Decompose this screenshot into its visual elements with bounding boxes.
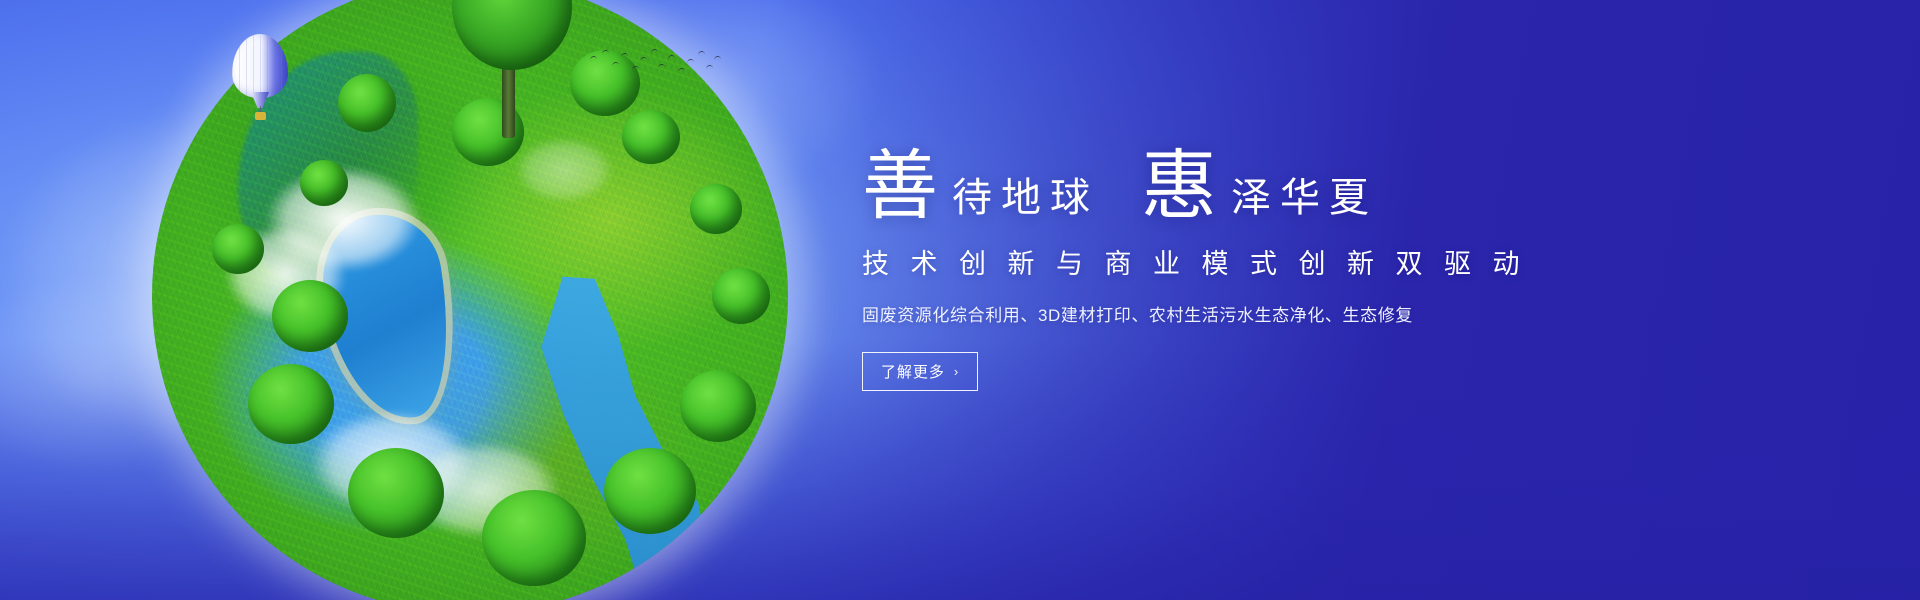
globe-tree: [248, 364, 334, 444]
bird-flock-icon: [588, 46, 718, 90]
hero-copy-block: 善 待地球 惠 泽华夏 技 术 创 新 与 商 业 模 式 创 新 双 驱 动 …: [862, 132, 1542, 391]
globe-tree: [482, 490, 586, 586]
globe-tree: [300, 160, 348, 206]
learn-more-button[interactable]: 了解更多 ›: [862, 352, 978, 391]
globe-tree: [712, 268, 770, 324]
headline-char-2: 惠: [1141, 148, 1219, 224]
hot-air-balloon-icon: [232, 34, 288, 126]
hero-banner: 善 待地球 惠 泽华夏 技 术 创 新 与 商 业 模 式 创 新 双 驱 动 …: [0, 0, 1920, 600]
learn-more-label: 了解更多: [881, 361, 945, 382]
headline-char-1: 善: [862, 148, 940, 224]
globe-tree: [348, 448, 444, 538]
globe-tree: [272, 280, 348, 352]
globe-tree: [622, 110, 680, 164]
globe-tree: [690, 184, 742, 234]
headline-text-2: 泽华夏: [1231, 178, 1378, 224]
globe-tree: [604, 448, 696, 534]
balloon-envelope: [232, 34, 288, 98]
balloon-basket: [255, 112, 266, 120]
hero-description: 固废资源化综合利用、3D建材打印、农村生活污水生态净化、生态修复: [862, 301, 1542, 326]
globe-tree: [680, 370, 756, 442]
chevron-right-icon: ›: [954, 364, 959, 379]
hero-subtitle: 技 术 创 新 与 商 业 模 式 创 新 双 驱 动: [862, 242, 1542, 281]
page-title: 善 待地球 惠 泽华夏: [862, 132, 1542, 224]
globe-tree: [338, 74, 396, 132]
headline-text-1: 待地球: [952, 178, 1099, 224]
globe-tree: [212, 224, 264, 274]
